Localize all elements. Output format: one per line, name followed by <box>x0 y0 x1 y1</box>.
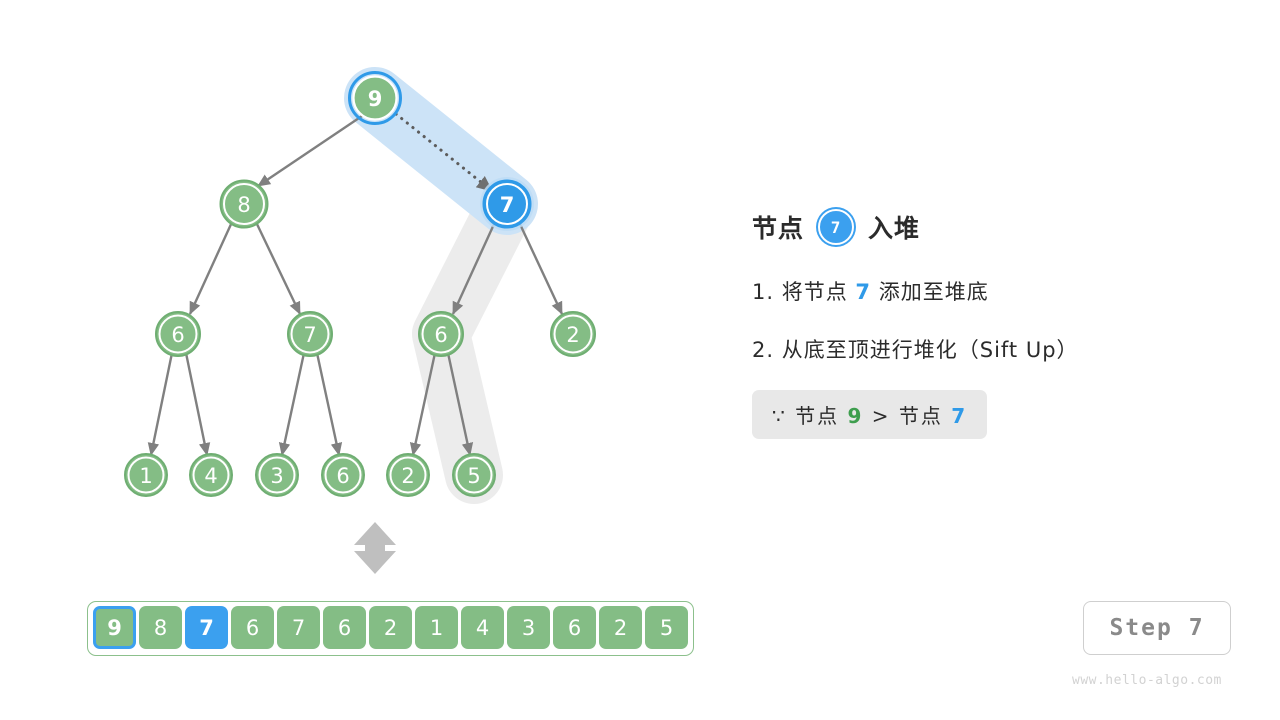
explanation-panel: 节点 7 入堆 1. 将节点 7 添加至堆底 2. 从底至顶进行堆化（Sift … <box>752 206 1252 439</box>
tree-node-label: 7 <box>500 193 515 217</box>
tree-node-label: 9 <box>368 87 383 111</box>
array-cell[interactable]: 8 <box>139 606 182 649</box>
reason-right-value: 7 <box>951 404 967 428</box>
array-cell[interactable]: 7 <box>185 606 228 649</box>
tree-node-label: 4 <box>204 464 217 488</box>
tree-node-6-right[interactable]: 6 <box>419 312 463 356</box>
panel-title-prefix: 节点 <box>752 209 804 245</box>
array-cell[interactable]: 6 <box>553 606 596 649</box>
array-cell[interactable]: 4 <box>461 606 504 649</box>
reason-left-value: 9 <box>847 404 863 428</box>
edge-n1-n3 <box>190 222 232 314</box>
edge-n2-n6 <box>519 222 562 314</box>
because-symbol: ∵ <box>772 404 787 428</box>
step-text-before: 将节点 <box>782 280 848 304</box>
up-down-arrow-icon <box>354 522 396 574</box>
heap-array-representation: 9 8 7 6 7 6 2 1 4 3 6 2 5 <box>87 601 694 656</box>
panel-title-node-badge: 7 <box>818 209 854 245</box>
tree-nodes: 9 8 7 6 <box>125 73 595 497</box>
array-cell[interactable]: 6 <box>231 606 274 649</box>
array-cell[interactable]: 7 <box>277 606 320 649</box>
tree-node-6-left[interactable]: 6 <box>156 312 200 356</box>
panel-step-1: 1. 将节点 7 添加至堆底 <box>752 276 1252 306</box>
tree-node-1-leaf[interactable]: 1 <box>125 454 167 496</box>
array-cell[interactable]: 2 <box>369 606 412 649</box>
panel-step-2: 2. 从底至顶进行堆化（Sift Up） <box>752 334 1252 364</box>
tree-node-label: 6 <box>434 323 447 347</box>
tree-node-5-leaf[interactable]: 5 <box>453 454 495 496</box>
reason-operator: > <box>872 404 891 428</box>
panel-title-suffix: 入堆 <box>868 209 920 245</box>
tree-node-2-right[interactable]: 2 <box>551 312 595 356</box>
illustration-canvas: 9 8 7 6 <box>0 0 1280 720</box>
edge-n4-n9 <box>282 353 304 455</box>
step-badge: Step 7 <box>1083 601 1231 655</box>
array-cell[interactable]: 2 <box>599 606 642 649</box>
tree-node-label: 2 <box>401 464 414 488</box>
tree-node-7-inserted[interactable]: 7 <box>480 177 534 231</box>
tree-node-9-root[interactable]: 9 <box>350 73 401 124</box>
tree-node-2-leaf[interactable]: 2 <box>387 454 429 496</box>
tree-node-label: 5 <box>467 464 480 488</box>
edge-n0-n1 <box>258 116 362 186</box>
reason-right-label: 节点 <box>899 404 943 428</box>
reason-callout: ∵ 节点 9 > 节点 7 <box>752 390 987 439</box>
panel-title: 节点 7 入堆 <box>752 206 1252 248</box>
edge-n3-n7 <box>151 353 172 455</box>
tree-node-label: 2 <box>566 323 579 347</box>
step-text-before: 从底至顶进行堆化（Sift Up） <box>782 338 1079 362</box>
tree-node-label: 6 <box>336 464 349 488</box>
step-index: 2. <box>752 338 774 362</box>
tree-node-3-leaf[interactable]: 3 <box>256 454 298 496</box>
edge-n4-n10 <box>317 353 339 455</box>
array-cell[interactable]: 3 <box>507 606 550 649</box>
tree-node-6-leaf[interactable]: 6 <box>322 454 364 496</box>
tree-node-7-left[interactable]: 7 <box>288 312 332 356</box>
array-cell[interactable]: 1 <box>415 606 458 649</box>
step-value: 7 <box>855 280 871 304</box>
reason-left-label: 节点 <box>795 404 839 428</box>
step-text-after: 添加至堆底 <box>879 280 989 304</box>
array-cell[interactable]: 6 <box>323 606 366 649</box>
array-cell[interactable]: 5 <box>645 606 688 649</box>
edge-n3-n8 <box>186 353 207 455</box>
tree-node-label: 8 <box>237 193 250 217</box>
tree-node-label: 6 <box>171 323 184 347</box>
tree-node-label: 7 <box>303 323 316 347</box>
tree-node-8[interactable]: 8 <box>221 181 268 228</box>
tree-node-4-leaf[interactable]: 4 <box>190 454 232 496</box>
tree-node-label: 3 <box>270 464 283 488</box>
edge-n1-n4 <box>256 222 300 314</box>
watermark: www.hello-algo.com <box>1072 673 1222 688</box>
step-index: 1. <box>752 280 774 304</box>
array-cell[interactable]: 9 <box>93 606 136 649</box>
tree-node-label: 1 <box>139 464 152 488</box>
